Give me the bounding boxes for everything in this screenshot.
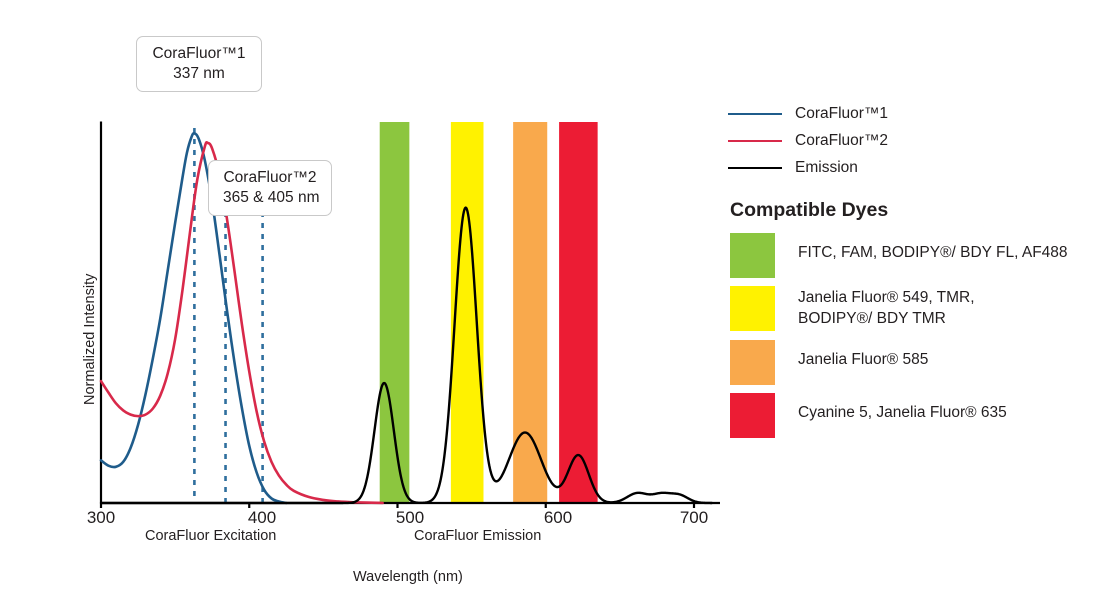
legend-line-emission xyxy=(728,167,782,169)
dye-label-yellow-line2: BODIPY®/ BDY TMR xyxy=(798,309,975,330)
legend-label-corafluor2: CoraFluor™2 xyxy=(795,132,888,150)
corafluor2-callout-line1: CoraFluor™2 xyxy=(223,168,317,188)
dye-label-red: Cyanine 5, Janelia Fluor® 635 xyxy=(798,393,1007,424)
legend-line-corafluor2 xyxy=(728,140,782,142)
excitation-region-label: CoraFluor Excitation xyxy=(145,528,276,544)
x-axis-title: Wavelength (nm) xyxy=(353,569,463,585)
legend-line-corafluor1 xyxy=(728,113,782,115)
legend-label-emission: Emission xyxy=(795,159,858,177)
dye-label-yellow-line1: Janelia Fluor® 549, TMR, xyxy=(798,288,975,309)
y-axis-title: Normalized Intensity xyxy=(82,274,98,405)
dye-item-green: FITC, FAM, BODIPY®/ BDY FL, AF488 xyxy=(730,233,1068,278)
dye-label-green: FITC, FAM, BODIPY®/ BDY FL, AF488 xyxy=(798,233,1068,264)
dye-swatch-green xyxy=(730,233,775,278)
dye-label-yellow: Janelia Fluor® 549, TMR, BODIPY®/ BDY TM… xyxy=(798,286,975,329)
dye-label-red-line1: Cyanine 5, Janelia Fluor® 635 xyxy=(798,403,1007,424)
legend-item-corafluor2: CoraFluor™2 xyxy=(728,127,1110,154)
green-band xyxy=(380,122,410,503)
dye-swatch-orange xyxy=(730,340,775,385)
corafluor2-callout-line2: 365 & 405 nm xyxy=(223,188,317,208)
dye-label-green-line1: FITC, FAM, BODIPY®/ BDY FL, AF488 xyxy=(798,243,1068,264)
orange-band xyxy=(513,122,547,503)
dye-swatch-red xyxy=(730,393,775,438)
dye-item-yellow: Janelia Fluor® 549, TMR, BODIPY®/ BDY TM… xyxy=(730,286,975,331)
x-tick-300: 300 xyxy=(81,508,121,528)
corafluor2-callout: CoraFluor™2 365 & 405 nm xyxy=(208,160,332,216)
legend-item-emission: Emission xyxy=(728,154,1110,181)
corafluor1-callout-line2: 337 nm xyxy=(151,64,247,84)
x-tick-600: 600 xyxy=(538,508,578,528)
legend-label-corafluor1: CoraFluor™1 xyxy=(795,105,888,123)
x-tick-700: 700 xyxy=(674,508,714,528)
dye-item-orange: Janelia Fluor® 585 xyxy=(730,340,928,385)
legend-item-corafluor1: CoraFluor™1 xyxy=(728,100,1110,127)
x-tick-500: 500 xyxy=(390,508,430,528)
x-tick-400: 400 xyxy=(242,508,282,528)
dye-item-red: Cyanine 5, Janelia Fluor® 635 xyxy=(730,393,1007,438)
series-legend: CoraFluor™1 CoraFluor™2 Emission xyxy=(728,100,1110,181)
dye-swatch-yellow xyxy=(730,286,775,331)
red-band xyxy=(559,122,598,503)
figure-root: Normalized Intensity 300 400 500 600 700… xyxy=(0,0,1110,612)
dye-label-orange: Janelia Fluor® 585 xyxy=(798,340,928,371)
compatible-dyes-title: Compatible Dyes xyxy=(730,199,888,222)
corafluor1-callout: CoraFluor™1 337 nm xyxy=(136,36,262,92)
emission-region-label: CoraFluor Emission xyxy=(414,528,541,544)
corafluor1-callout-line1: CoraFluor™1 xyxy=(151,44,247,64)
dye-label-orange-line1: Janelia Fluor® 585 xyxy=(798,350,928,371)
